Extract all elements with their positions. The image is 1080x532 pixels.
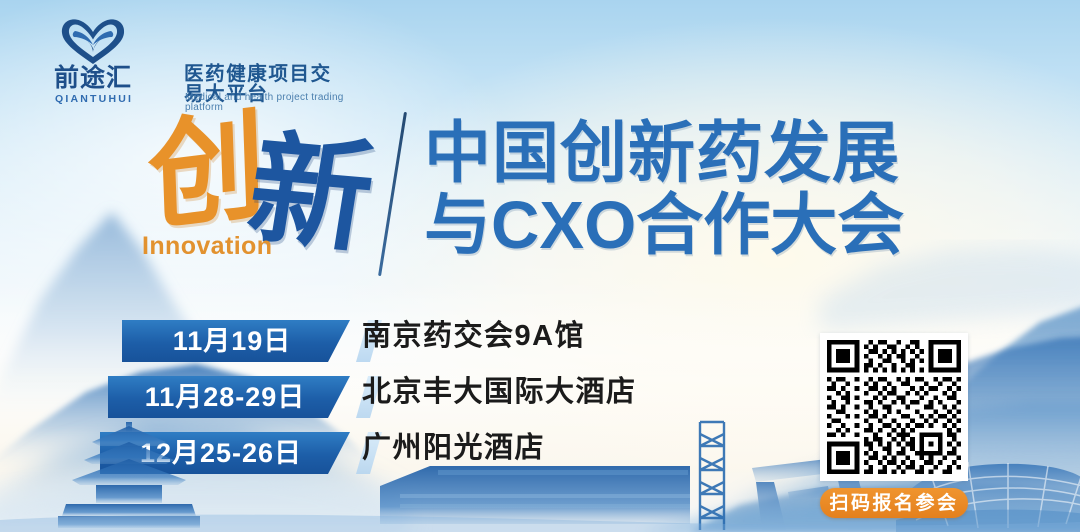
exhibition-hall-shape — [380, 466, 690, 524]
title-line-1: 中国创新药发展 — [424, 118, 1024, 190]
date-badge: 11月19日 — [122, 320, 350, 362]
logo-name-cn: 前途汇 — [54, 66, 132, 91]
register-cta-label: 扫码报名参会 — [829, 494, 958, 513]
title-line-2: 与CXO合作大会 — [424, 190, 1024, 262]
heart-leaf-logo-icon — [56, 16, 130, 66]
venue-label: 南京药交会9A馆 — [362, 322, 585, 351]
calligraphy-english-label: Innovation — [142, 234, 272, 259]
calligraphy-innovation-block: 创 新 Innovation — [140, 108, 390, 278]
logo-name-en: QIANTUHUI — [55, 94, 133, 105]
qr-code-icon — [827, 340, 961, 474]
conference-banner: 前途汇 QIANTUHUI 医药健康项目交易大平台 Medical and he… — [0, 0, 1080, 532]
qr-registration-block[interactable]: 扫码报名参会 — [820, 333, 968, 518]
temple-of-heaven-shape — [58, 422, 200, 528]
register-cta-button[interactable]: 扫码报名参会 — [820, 488, 968, 518]
page-title: 中国创新药发展 与CXO合作大会 — [424, 118, 1024, 261]
schedule-row: 11月19日 南京药交会9A馆 — [0, 320, 700, 369]
date-label: 11月28-29日 — [145, 384, 314, 411]
qr-code-card — [820, 333, 968, 481]
brand-logo: 前途汇 QIANTUHUI 医药健康项目交易大平台 Medical and he… — [52, 16, 352, 102]
date-label: 11月19日 — [173, 328, 300, 355]
lattice-tower-shape — [700, 422, 724, 530]
venue-label: 北京丰大国际大酒店 — [362, 378, 637, 407]
